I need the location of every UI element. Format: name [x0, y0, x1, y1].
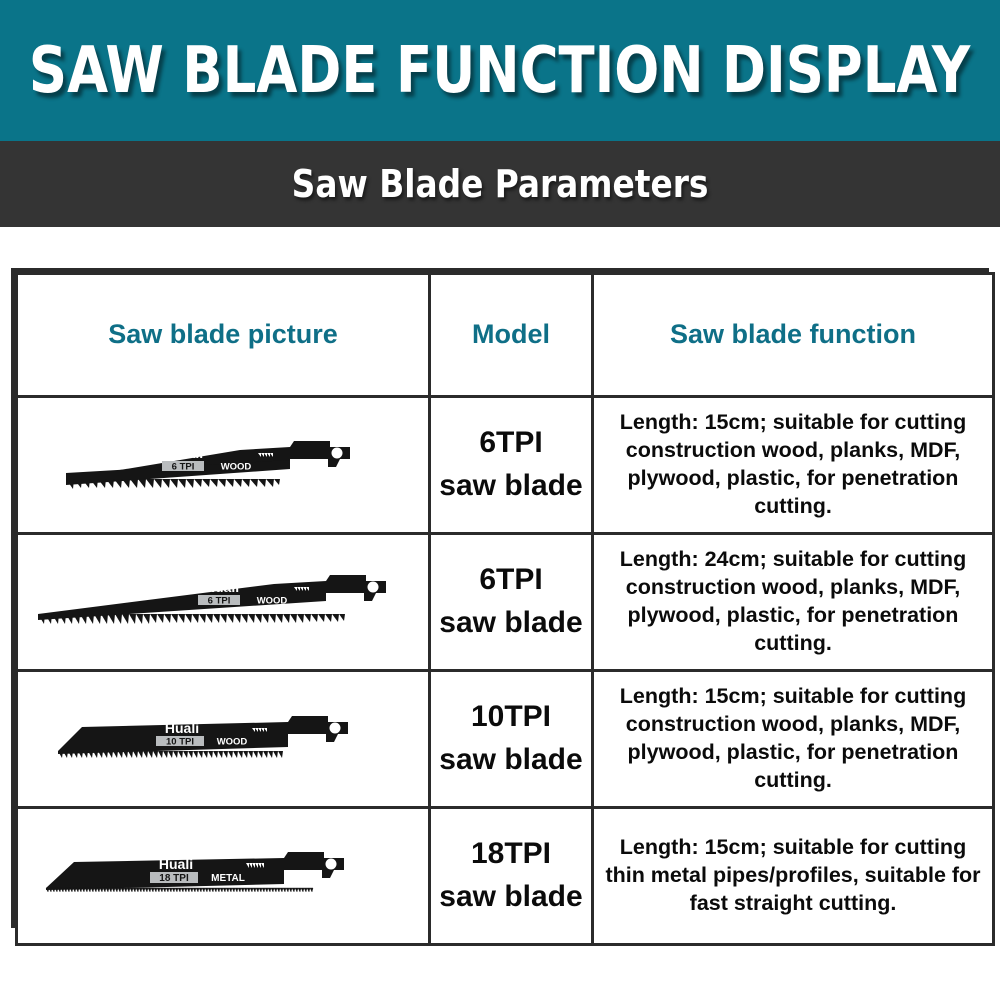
- table-row: 6 TPI WOOD Huali 6TPI saw blade: [17, 534, 994, 671]
- function-cell: Length: 15cm; suitable for cutting const…: [593, 397, 994, 534]
- saw-blade-icon-6tpi-15cm: 6 TPI WOOD Huali: [44, 433, 374, 497]
- function-cell: Length: 24cm; suitable for cutting const…: [593, 534, 994, 671]
- model-suffix: saw blade: [435, 465, 587, 508]
- top-banner: SAW BLADE FUNCTION DISPLAY: [0, 0, 1000, 141]
- blade-image-cell: 10 TPI WOOD Huali: [17, 671, 430, 808]
- model-tpi: 10TPI: [435, 696, 587, 739]
- model-suffix: saw blade: [435, 876, 587, 919]
- svg-text:6 TPI: 6 TPI: [208, 596, 231, 607]
- svg-text:6 TPI: 6 TPI: [172, 462, 195, 473]
- page-title: SAW BLADE FUNCTION DISPLAY: [29, 39, 970, 103]
- svg-text:Huali: Huali: [159, 856, 193, 872]
- subtitle-banner: Saw Blade Parameters: [0, 141, 1000, 227]
- blade-image-cell: 6 TPI WOOD Huali: [17, 397, 430, 534]
- model-cell: 6TPI saw blade: [430, 397, 593, 534]
- function-cell: Length: 15cm; suitable for cutting thin …: [593, 808, 994, 945]
- header-cell-model: Model: [430, 274, 593, 397]
- model-text: 6TPI saw blade: [431, 557, 591, 646]
- svg-text:Huali: Huali: [205, 579, 239, 595]
- svg-text:Huali: Huali: [169, 445, 203, 461]
- saw-blade-icon-18tpi-15cm: 18 TPI METAL Huali: [40, 844, 370, 908]
- model-suffix: saw blade: [435, 739, 587, 782]
- function-text: Length: 15cm; suitable for cutting const…: [594, 405, 992, 525]
- table-row: 18 TPI METAL Huali 18TPI saw blade: [17, 808, 994, 945]
- function-cell: Length: 15cm; suitable for cutting const…: [593, 671, 994, 808]
- blade-image-cell: 6 TPI WOOD Huali: [17, 534, 430, 671]
- blade-illustration: 18 TPI METAL Huali: [18, 809, 428, 943]
- blade-image-cell: 18 TPI METAL Huali: [17, 808, 430, 945]
- svg-text:METAL: METAL: [211, 873, 245, 884]
- model-text: 10TPI saw blade: [431, 694, 591, 783]
- model-cell: 18TPI saw blade: [430, 808, 593, 945]
- table-row: 10 TPI WOOD Huali 10TPI saw blade: [17, 671, 994, 808]
- header-label-model: Model: [431, 319, 591, 350]
- svg-text:10 TPI: 10 TPI: [166, 737, 194, 748]
- table-row: 6 TPI WOOD Huali 6TPI saw blade: [17, 397, 994, 534]
- model-cell: 6TPI saw blade: [430, 534, 593, 671]
- model-suffix: saw blade: [435, 602, 587, 645]
- parameters-table: Saw blade picture Model Saw blade functi…: [15, 272, 995, 946]
- model-cell: 10TPI saw blade: [430, 671, 593, 808]
- function-text: Length: 15cm; suitable for cutting const…: [594, 679, 992, 799]
- svg-text:18 TPI: 18 TPI: [159, 873, 189, 884]
- header-cell-function: Saw blade function: [593, 274, 994, 397]
- svg-text:WOOD: WOOD: [221, 462, 252, 473]
- table-header-row: Saw blade picture Model Saw blade functi…: [17, 274, 994, 397]
- blade-illustration: 6 TPI WOOD Huali: [18, 535, 428, 669]
- blade-illustration: 10 TPI WOOD Huali: [18, 672, 428, 806]
- model-text: 6TPI saw blade: [431, 420, 591, 509]
- model-tpi: 6TPI: [435, 559, 587, 602]
- function-text: Length: 24cm; suitable for cutting const…: [594, 542, 992, 662]
- product-infographic: SAW BLADE FUNCTION DISPLAY Saw Blade Par…: [0, 0, 1000, 1000]
- function-text: Length: 15cm; suitable for cutting thin …: [594, 830, 992, 922]
- svg-text:WOOD: WOOD: [217, 737, 248, 748]
- svg-text:Huali: Huali: [165, 720, 199, 736]
- section-title: Saw Blade Parameters: [292, 165, 709, 203]
- model-text: 18TPI saw blade: [431, 831, 591, 920]
- saw-blade-icon-6tpi-24cm: 6 TPI WOOD Huali: [24, 570, 410, 634]
- parameters-table-wrapper: Saw blade picture Model Saw blade functi…: [11, 268, 989, 928]
- blade-illustration: 6 TPI WOOD Huali: [18, 398, 428, 532]
- model-tpi: 18TPI: [435, 833, 587, 876]
- header-label-picture: Saw blade picture: [18, 319, 428, 350]
- header-label-function: Saw blade function: [594, 319, 992, 350]
- svg-text:WOOD: WOOD: [257, 596, 288, 607]
- header-cell-picture: Saw blade picture: [17, 274, 430, 397]
- model-tpi: 6TPI: [435, 422, 587, 465]
- saw-blade-icon-10tpi-15cm: 10 TPI WOOD Huali: [52, 707, 370, 771]
